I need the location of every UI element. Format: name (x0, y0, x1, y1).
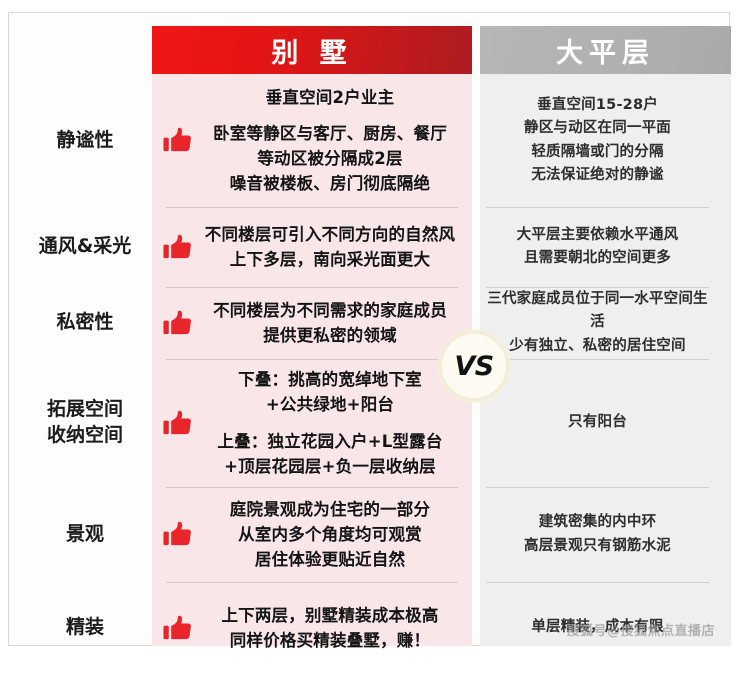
table-row: 拓展空间收纳空间下叠：挑高的宽绰地下室+公共绿地+阳台上叠：独立花园入户+L型露… (18, 359, 731, 487)
table-row: 景观庭院景观成为住宅的一部分从室内多个角度均可观赏居住体验更贴近自然建筑密集的内… (18, 487, 731, 582)
villa-paragraph: 垂直空间2户业主 (198, 85, 462, 110)
flat-cell: 垂直空间15-28户静区与动区在同一平面轻质隔墙或门的分隔无法保证绝对的静谧 (472, 74, 723, 207)
flat-paragraph: 垂直空间15-28户 (524, 94, 671, 117)
villa-cell-text: 垂直空间2户业主卧室等静区与客厅、厨房、餐厅等动区被分隔成2层噪音被楼板、房门彻… (198, 85, 462, 196)
flat-paragraph: 只有阳台 (568, 411, 627, 434)
villa-cell: 不同楼层可引入不同方向的自然风上下多层，南向采光面更大 (152, 207, 472, 287)
row-divider (486, 359, 709, 360)
villa-column-header: 别 墅 (152, 26, 472, 74)
villa-cell-text: 不同楼层为不同需求的家庭成员提供更私密的领域 (198, 298, 462, 348)
row-divider (486, 207, 709, 208)
row-divider (486, 582, 709, 583)
flat-paragraph: 建筑密集的内中环高层景观只有钢筋水泥 (524, 511, 671, 558)
flat-cell: 只有阳台 (472, 359, 723, 487)
villa-cell: 上下两层，别墅精装成本极高同样价格买精装叠墅，赚！ (152, 582, 472, 674)
comparison-rows: 静谧性垂直空间2户业主卧室等静区与客厅、厨房、餐厅等动区被分隔成2层噪音被楼板、… (18, 74, 731, 674)
flat-cell-text: 大平层主要依赖水平通风且需要朝北的空间更多 (517, 224, 679, 271)
villa-cell-text: 庭院景观成为住宅的一部分从室内多个角度均可观赏居住体验更贴近自然 (198, 497, 462, 572)
row-label: 私密性 (18, 287, 152, 359)
thumbs-up-icon (160, 406, 194, 440)
villa-cell-text: 不同楼层可引入不同方向的自然风上下多层，南向采光面更大 (198, 222, 462, 272)
row-divider (166, 207, 458, 208)
villa-cell: 垂直空间2户业主卧室等静区与客厅、厨房、餐厅等动区被分隔成2层噪音被楼板、房门彻… (152, 74, 472, 207)
villa-paragraph: 庭院景观成为住宅的一部分从室内多个角度均可观赏居住体验更贴近自然 (198, 497, 462, 572)
row-divider (166, 359, 458, 360)
row-label: 拓展空间收纳空间 (18, 359, 152, 487)
flat-column-header: 大平层 (480, 26, 731, 74)
flat-paragraph: 静区与动区在同一平面轻质隔墙或门的分隔无法保证绝对的静谧 (524, 117, 671, 187)
flat-paragraph: 大平层主要依赖水平通风且需要朝北的空间更多 (517, 224, 679, 271)
flat-cell-text: 三代家庭成员位于同一水平空间生活少有独立、私密的居住空间 (484, 288, 711, 358)
villa-cell-text: 上下两层，别墅精装成本极高同样价格买精装叠墅，赚！ (198, 603, 462, 653)
villa-cell: 下叠：挑高的宽绰地下室+公共绿地+阳台上叠：独立花园入户+L型露台+顶层花园层+… (152, 359, 472, 487)
flat-cell-text: 垂直空间15-28户静区与动区在同一平面轻质隔墙或门的分隔无法保证绝对的静谧 (524, 94, 671, 188)
flat-cell: 建筑密集的内中环高层景观只有钢筋水泥 (472, 487, 723, 582)
villa-paragraph: 不同楼层可引入不同方向的自然风上下多层，南向采光面更大 (198, 222, 462, 272)
vs-badge: VS (439, 331, 509, 401)
row-divider (166, 582, 458, 583)
villa-paragraph: 卧室等静区与客厅、厨房、餐厅等动区被分隔成2层噪音被楼板、房门彻底隔绝 (198, 121, 462, 196)
villa-paragraph: 下叠：挑高的宽绰地下室+公共绿地+阳台 (198, 367, 462, 417)
comparison-table-frame: 别 墅 大平层 静谧性垂直空间2户业主卧室等静区与客厅、厨房、餐厅等动区被分隔成… (8, 12, 730, 646)
flat-cell: 三代家庭成员位于同一水平空间生活少有独立、私密的居住空间 (472, 287, 723, 359)
flat-cell-text: 建筑密集的内中环高层景观只有钢筋水泥 (524, 511, 671, 558)
villa-paragraph: 上下两层，别墅精装成本极高同样价格买精装叠墅，赚！ (198, 603, 462, 653)
table-row: 私密性不同楼层为不同需求的家庭成员提供更私密的领域三代家庭成员位于同一水平空间生… (18, 287, 731, 359)
row-divider (486, 287, 709, 288)
thumbs-up-icon (160, 306, 194, 340)
row-divider (166, 487, 458, 488)
thumbs-up-icon (160, 611, 194, 645)
villa-cell: 庭院景观成为住宅的一部分从室内多个角度均可观赏居住体验更贴近自然 (152, 487, 472, 582)
villa-paragraph: 不同楼层为不同需求的家庭成员提供更私密的领域 (198, 298, 462, 348)
villa-cell-text: 下叠：挑高的宽绰地下室+公共绿地+阳台上叠：独立花园入户+L型露台+顶层花园层+… (198, 367, 462, 478)
row-label: 静谧性 (18, 74, 152, 207)
villa-cell: 不同楼层为不同需求的家庭成员提供更私密的领域 (152, 287, 472, 359)
row-label: 精装 (18, 582, 152, 674)
row-divider (486, 487, 709, 488)
flat-cell-text: 只有阳台 (568, 411, 627, 434)
villa-paragraph: 上叠：独立花园入户+L型露台+顶层花园层+负一层收纳层 (198, 429, 462, 479)
table-row: 通风&采光不同楼层可引入不同方向的自然风上下多层，南向采光面更大大平层主要依赖水… (18, 207, 731, 287)
flat-paragraph: 三代家庭成员位于同一水平空间生活少有独立、私密的居住空间 (484, 288, 711, 358)
row-label: 景观 (18, 487, 152, 582)
flat-cell: 大平层主要依赖水平通风且需要朝北的空间更多 (472, 207, 723, 287)
thumbs-up-icon (160, 230, 194, 264)
thumbs-up-icon (160, 124, 194, 158)
thumbs-up-icon (160, 518, 194, 552)
row-divider (166, 287, 458, 288)
watermark-text: 搜狐号@搜狐焦点直播店 (566, 620, 715, 639)
table-row: 静谧性垂直空间2户业主卧室等静区与客厅、厨房、餐厅等动区被分隔成2层噪音被楼板、… (18, 74, 731, 207)
row-label: 通风&采光 (18, 207, 152, 287)
